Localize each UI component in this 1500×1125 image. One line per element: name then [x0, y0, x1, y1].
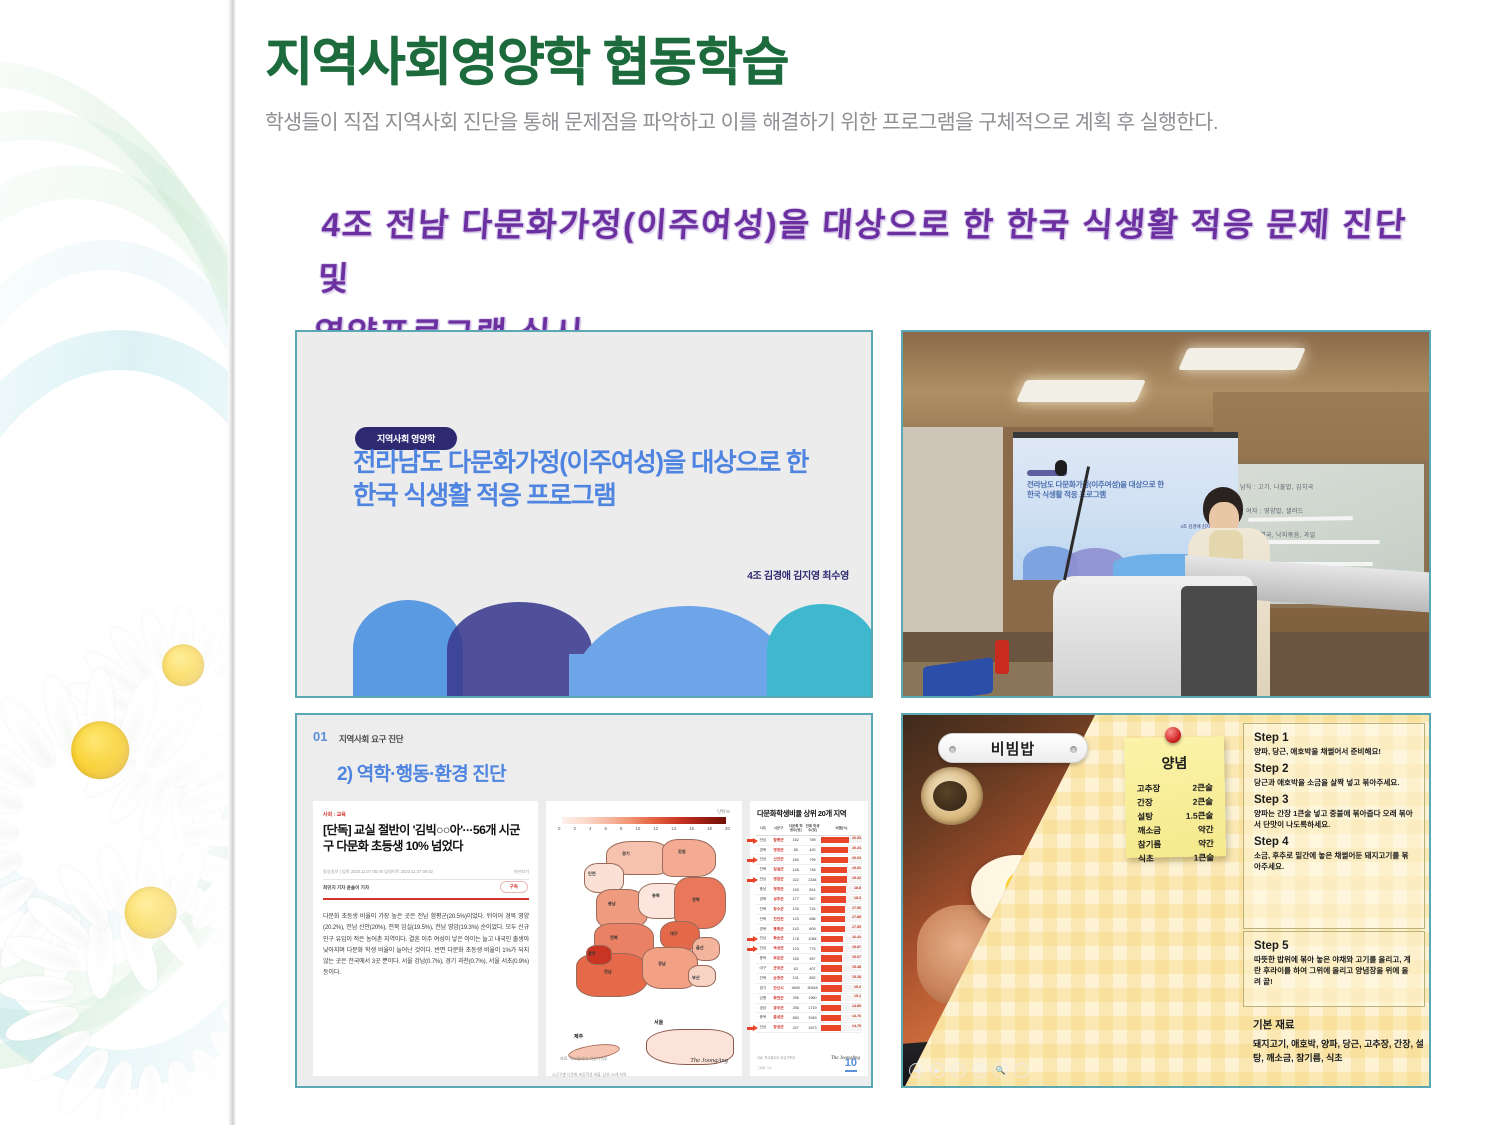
- map-label-jeju: 제주: [574, 1033, 583, 1040]
- step-title: Step 5: [1254, 940, 1414, 952]
- map-legend-tick: 10: [635, 826, 640, 831]
- ratio-bar-fill: [821, 955, 842, 962]
- project-heading-line1: 4조 전남 다문화가정(이주여성)을 대상으로 한 한국 식생활 적응 문제 진…: [317, 206, 1409, 297]
- news-red-rule: [323, 898, 529, 900]
- fire-extinguisher: [995, 640, 1009, 674]
- ratio-bar-track: 15.2: [821, 985, 862, 992]
- th-sido: 시도: [756, 823, 770, 835]
- cell-sido: 대구: [756, 964, 770, 974]
- map-label-chungbuk: 충북: [652, 893, 660, 899]
- slide-page-number: 10: [845, 1057, 857, 1072]
- cell-multicultural-count: 142: [787, 924, 804, 934]
- table-row: 전북진안군12368617.88: [756, 914, 862, 924]
- seasoning-amount: 1큰술: [1194, 850, 1215, 864]
- ratio-value: 18.3: [854, 896, 861, 900]
- map-label-ulsan: 울산: [696, 945, 704, 951]
- cell-sido: 전북: [756, 904, 770, 914]
- th-ratio: 비율(%): [821, 823, 862, 835]
- map-footnote: 시군구별 다문화 초등학생 비율, 상위 20개 지역: [552, 1073, 626, 1078]
- cell-multicultural-count: 583: [787, 1013, 804, 1023]
- wall-left: [903, 427, 1013, 637]
- news-clipping-card: 사회 : 교육 [단독] 교실 절반이 '김빅○○아'···56개 시군구 다문…: [313, 801, 538, 1076]
- table-row: 전남화순군178108416.42: [756, 934, 862, 944]
- ratio-value: 19.32: [852, 876, 861, 880]
- ratio-bar-fill: [821, 946, 843, 953]
- cell-ratio-bar: 15.87: [821, 944, 862, 954]
- seasoning-name: 깨소금: [1137, 823, 1161, 837]
- cell-multicultural-count: 247: [787, 1023, 804, 1033]
- map-legend-tick: 16: [689, 826, 694, 831]
- ceiling-light-2: [1178, 348, 1306, 370]
- screen-title-line1: 전라남도 다문화가정(이주여성)을 대상으로 한: [1027, 480, 1164, 489]
- ratio-bar-track: 15.48: [821, 965, 862, 972]
- seasoning-row: 설탕1.5큰술: [1137, 808, 1213, 823]
- seasoning-row: 간장2큰술: [1137, 794, 1213, 809]
- ratio-value: 15.1: [854, 994, 861, 998]
- cell-sido: 충북: [756, 954, 770, 964]
- ratio-bar-track: 20.24: [821, 847, 862, 854]
- table-row: 전남장성군247167314.75: [756, 1023, 862, 1033]
- cell-total-count: 799: [804, 855, 821, 865]
- ratio-bar-fill: [821, 906, 845, 913]
- cell-multicultural-count: 153: [787, 885, 804, 895]
- highlight-arrow-icon: [747, 838, 758, 844]
- map-label-chungnam: 충남: [608, 901, 616, 907]
- ratio-value: 16.42: [852, 935, 861, 939]
- table-row: 충남청양군15381418.8: [756, 885, 862, 895]
- cell-ratio-bar: 14.89: [821, 1003, 862, 1013]
- seasoning-list: 고추장2큰술간장2큰술설탕1.5큰술깨소금약간참기름약간식초1큰술: [1137, 780, 1214, 865]
- slide-title-line2: 한국 식생활 적응 프로그램: [353, 482, 616, 510]
- map-unit-label: 단위:%: [717, 809, 730, 815]
- map-legend-ticks: 02468101214161820: [558, 826, 730, 831]
- table-row: 전북장수군13072417.96: [756, 904, 862, 914]
- step-title: Step 2: [1254, 763, 1414, 775]
- cell-multicultural-count: 123: [787, 914, 804, 924]
- cell-sigungu: 보은군: [770, 954, 788, 964]
- cell-total-count: 748: [804, 865, 821, 875]
- cell-sigungu: 성주군: [770, 894, 788, 904]
- page-root: 지역사회영양학 협동학습 학생들이 직접 지역사회 진단을 통해 문제점을 파악…: [0, 0, 1500, 1125]
- table-row: 대구군위군6340715.48: [756, 964, 862, 974]
- cell-sigungu: 청양군: [770, 885, 788, 895]
- presentation-photo-panel[interactable]: 남자 : 고기, 나물밥, 김치국 여자 : 영양밥, 샐러드 공통 : 미역국…: [901, 330, 1431, 698]
- ratio-value: 19.52: [852, 866, 861, 870]
- th-total: 전체 학생수(명): [804, 823, 821, 835]
- ratio-bar-fill: [821, 995, 842, 1002]
- cell-multicultural-count: 177: [787, 894, 804, 904]
- ratio-value: 15.87: [852, 945, 861, 949]
- table-row: 충북음성군583394914.76: [756, 1013, 862, 1023]
- seasoning-sticky-note: 양념 고추장2큰술간장2큰술설탕1.5큰술깨소금약간참기름약간식초1큰술: [1124, 736, 1226, 858]
- cell-sigungu: 음성군: [770, 1013, 788, 1023]
- ratio-value: 20.53: [852, 836, 861, 840]
- microphone-head: [1055, 460, 1067, 476]
- highlight-arrow-icon: [747, 1025, 758, 1031]
- map-legend-tick: 18: [707, 826, 712, 831]
- more-icon[interactable]: ⋯: [1014, 1063, 1029, 1078]
- cell-sido: 전남: [756, 1023, 770, 1033]
- map-legend-tick: 8: [620, 826, 622, 831]
- step-body: 소금, 후추로 밑간에 놓은 채썰어둔 돼지고기를 볶아주세요.: [1254, 850, 1414, 872]
- cell-multicultural-count: 422: [787, 875, 804, 885]
- table-footnote: 그래픽 기자: [757, 1066, 772, 1070]
- cell-total-count: 1719: [804, 1003, 821, 1013]
- ratio-value: 17.88: [852, 915, 861, 919]
- cell-multicultural-count: 131: [787, 973, 804, 983]
- th-sigungu: 시군구: [770, 823, 788, 835]
- map-label-seoul: 서울: [654, 1019, 663, 1026]
- decorative-blob-base: [569, 654, 799, 698]
- cell-total-count: 1960: [804, 993, 821, 1003]
- mushroom-center: [933, 781, 967, 811]
- table-row: 강원화천군296196015.1: [756, 993, 862, 1003]
- news-headline: [단독] 교실 절반이 '김빅○○아'···56개 시군구 다문화 초등생 10…: [323, 823, 529, 855]
- dish-name: 비빔밥: [991, 738, 1035, 759]
- cell-sido: 전남: [756, 855, 770, 865]
- cell-sigungu: 장성군: [770, 1023, 788, 1033]
- page-subtitle: 학생들이 직접 지역사회 진단을 통해 문제점을 파악하고 이를 해결하기 위한…: [265, 105, 1465, 135]
- ratio-bar-track: 14.76: [821, 1015, 862, 1022]
- highlight-arrow-icon: [747, 877, 758, 883]
- ratio-value: 17.96: [852, 906, 861, 910]
- cell-total-count: 686: [804, 914, 821, 924]
- seasoning-amount: 1.5큰술: [1186, 808, 1214, 822]
- cell-sido: 강원: [756, 993, 770, 1003]
- table-row: 경남공주군256171914.89: [756, 1003, 862, 1013]
- map-legend-gradient: [562, 817, 726, 824]
- cell-sido: 전북: [756, 914, 770, 924]
- ratio-value: 14.75: [852, 1024, 861, 1028]
- seasoning-title: 양념: [1124, 752, 1224, 774]
- table-row: 전남신안군16079920.03: [756, 855, 862, 865]
- seasoning-amount: 약간: [1198, 822, 1214, 836]
- cell-total-count: 724: [804, 904, 821, 914]
- step-title: Step 4: [1254, 836, 1414, 848]
- ratio-bar-fill: [821, 1005, 841, 1012]
- seasoning-row: 참기름약간: [1138, 836, 1214, 851]
- seasoning-name: 참기름: [1138, 837, 1162, 851]
- ratio-value: 15.2: [854, 985, 861, 989]
- cell-total-count: 407: [804, 964, 821, 974]
- cell-multicultural-count: 146: [787, 865, 804, 875]
- highlight-arrow-icon: [747, 946, 758, 952]
- ratio-bar-track: 16.42: [821, 936, 862, 943]
- ratio-value: 15.67: [852, 955, 861, 959]
- cell-sigungu: 순창군: [770, 973, 788, 983]
- cell-multicultural-count: 123: [787, 944, 804, 954]
- cell-ratio-bar: 17.96: [821, 904, 862, 914]
- screen-title: 전라남도 다문화가정(이주여성)을 대상으로 한 한국 식생활 적응 프로그램: [1027, 480, 1222, 501]
- news-subscribe-button[interactable]: 구독: [500, 881, 528, 893]
- ratio-bar-fill: [821, 867, 848, 874]
- cell-sigungu: 진안군: [770, 914, 788, 924]
- ratio-bar-fill: [821, 965, 842, 972]
- table-row: 전남곡성군12377515.87: [756, 944, 862, 954]
- ratio-bar-track: 18.8: [821, 886, 862, 893]
- cell-multicultural-count: 150: [787, 954, 804, 964]
- ratio-bar-track: 19.52: [821, 867, 862, 874]
- korea-choropleth-card: 단위:% 02468101214161820: [546, 801, 742, 1076]
- cell-ratio-bar: 14.75: [821, 1023, 862, 1033]
- slide-authors: 4조 김경애 김지영 최수영: [747, 567, 849, 582]
- cell-total-count: 1673: [804, 1023, 821, 1033]
- cell-ratio-bar: 15.48: [821, 964, 862, 974]
- map-brand: The JoongAng: [690, 1057, 728, 1064]
- cell-sigungu: 공주군: [770, 1003, 788, 1013]
- seasoning-amount: 2큰술: [1192, 780, 1213, 794]
- ratio-value: 14.76: [852, 1014, 861, 1018]
- seasoning-name: 설탕: [1137, 809, 1153, 823]
- cell-sido: 경북: [756, 924, 770, 934]
- table-header-row: 시도 시군구 다문화 학생수(명) 전체 학생수(명) 비율(%): [756, 823, 862, 835]
- cell-multicultural-count: 296: [787, 993, 804, 1003]
- map-label-daegu: 대구: [670, 931, 678, 937]
- cell-sigungu: 군위군: [770, 964, 788, 974]
- cell-ratio-bar: 20.03: [821, 855, 862, 865]
- cell-sigungu: 장수군: [770, 904, 788, 914]
- cell-sigungu: 봉화군: [770, 924, 788, 934]
- table-row: 경북봉화군14280917.55: [756, 924, 862, 934]
- map-label-gwangju: 광주: [588, 951, 596, 957]
- cell-total-count: 809: [804, 924, 821, 934]
- cell-ratio-bar: 19.52: [821, 865, 862, 875]
- cell-sido: 전북: [756, 865, 770, 875]
- news-divider: [323, 879, 529, 880]
- cell-ratio-bar: 19.32: [821, 875, 862, 885]
- page-header: 지역사회영양학 협동학습 학생들이 직접 지역사회 진단을 통해 문제점을 파악…: [265, 36, 1465, 135]
- cell-sigungu: 곡성군: [770, 944, 788, 954]
- pushpin-icon: [1165, 727, 1181, 743]
- recipe-toolbar[interactable]: ◀▶／❐🔍⋯: [909, 1063, 1029, 1078]
- table-row: 경북성주군17796718.3: [756, 894, 862, 904]
- cell-ratio-bar: 14.76: [821, 1013, 862, 1023]
- map-label-gyeongbuk: 경북: [692, 897, 700, 903]
- ratio-bar-fill: [821, 916, 845, 923]
- news-meta: 중앙일보 | 입력 2023.11.07 05:00 업데이트 2023.11.…: [323, 869, 529, 875]
- cell-sigungu: 신안군: [770, 855, 788, 865]
- cell-ratio-bar: 16.42: [821, 934, 862, 944]
- map-label-incheon: 인천: [588, 871, 596, 877]
- plate-hole-left: [949, 746, 956, 753]
- table-row: 경북영양군8542020.24: [756, 845, 862, 855]
- cell-multicultural-count: 160: [787, 855, 804, 865]
- whiteboard-highlight-2: [1255, 540, 1380, 544]
- ratio-value: 15.48: [852, 965, 861, 969]
- cell-ratio-bar: 17.55: [821, 924, 862, 934]
- step-body: 양파, 당근, 애호박을 채썰어서 준비해요!: [1254, 746, 1414, 757]
- ratio-value: 20.24: [852, 846, 861, 850]
- map-label-jeonnam: 전남: [604, 969, 612, 975]
- map-legend-tick: 12: [653, 826, 658, 831]
- cell-sido: 경북: [756, 845, 770, 855]
- cell-total-count: 852: [804, 973, 821, 983]
- step-title: Step 1: [1254, 732, 1414, 744]
- ranking-table: 시도 시군구 다문화 학생수(명) 전체 학생수(명) 비율(%) 전남함평군1…: [756, 823, 862, 1033]
- media-grid: 지역사회 영양학 전라남도 다문화가정(이주여성)을 대상으로 한 한국 식생활…: [295, 330, 1431, 1088]
- ranking-table-wrap: 시도 시군구 다문화 학생수(명) 전체 학생수(명) 비율(%) 전남함평군1…: [756, 823, 862, 1033]
- ratio-bar-track: 14.75: [821, 1025, 862, 1032]
- diagnosis-slide-panel[interactable]: 01 지역사회 요구 진단 2) 역학·행동·환경 진단 사회 : 교육 [단독…: [295, 713, 873, 1088]
- seasoning-name: 간장: [1137, 795, 1153, 809]
- table-source: 자료: 학교알리미·여성가족부: [757, 1055, 795, 1060]
- slide-title-panel[interactable]: 지역사회 영양학 전라남도 다문화가정(이주여성)을 대상으로 한 한국 식생활…: [295, 330, 873, 698]
- cell-total-count: 2184: [804, 875, 821, 885]
- copy-icon[interactable]: ❐: [972, 1063, 987, 1078]
- ratio-bar-fill: [821, 847, 849, 854]
- ratio-bar-fill: [821, 926, 845, 933]
- cell-ratio-bar: 15.2: [821, 983, 862, 993]
- ratio-bar-track: 17.88: [821, 916, 862, 923]
- ratio-value: 20.03: [852, 856, 861, 860]
- cell-sido: 경기: [756, 983, 770, 993]
- cell-multicultural-count: 63: [787, 964, 804, 974]
- cell-total-count: 30546: [804, 983, 821, 993]
- ratio-bar-fill: [821, 837, 849, 844]
- ratio-bar-fill: [821, 1025, 841, 1032]
- cell-ratio-bar: 15.67: [821, 954, 862, 964]
- korea-map-shape: 경기 강원 인천 충남 충북 경북 전북 대구 울산 전남 경남 부산 광주: [566, 841, 722, 1021]
- ingredients-block: 기본 재료 돼지고기, 애호박, 양파, 당근, 고추장, 간장, 설탕, 깨소…: [1253, 1017, 1425, 1066]
- cell-total-count: 3949: [804, 1013, 821, 1023]
- cell-multicultural-count: 130: [787, 904, 804, 914]
- seasoning-row: 식초1큰술: [1138, 850, 1214, 865]
- news-meta-left: 중앙일보 | 입력 2023.11.07 05:00 업데이트 2023.11.…: [323, 869, 433, 875]
- cell-total-count: 814: [804, 885, 821, 895]
- screen-title-line2: 한국 식생활 적응 프로그램: [1027, 490, 1106, 499]
- ratio-bar-fill: [821, 857, 848, 864]
- table-row: 충북보은군15095715.67: [756, 954, 862, 964]
- step-title: Step 3: [1254, 794, 1414, 806]
- cell-sido: 충북: [756, 1013, 770, 1023]
- section-number: 01: [313, 729, 327, 744]
- cell-ratio-bar: 15.1: [821, 993, 862, 1003]
- ratio-bar-track: 18.3: [821, 896, 862, 903]
- seasoning-row: 고추장2큰술: [1137, 780, 1213, 795]
- map-label-gangwon: 강원: [678, 849, 686, 855]
- next-icon[interactable]: ▶: [930, 1063, 945, 1078]
- highlight-arrow-icon: [747, 857, 758, 863]
- search-icon[interactable]: 🔍: [993, 1063, 1008, 1078]
- news-meta-right: 저만보기: [514, 869, 529, 875]
- ratio-bar-fill: [821, 896, 846, 903]
- news-body-text: 다문화 초등생 비율이 가장 높은 곳은 전남 함평군(20.5%)이었다. 뒤…: [323, 911, 529, 979]
- map-legend-tick: 20: [725, 826, 730, 831]
- seasoning-amount: 약간: [1198, 836, 1214, 850]
- ratio-bar-track: 19.32: [821, 876, 862, 883]
- cell-multicultural-count: 4690: [787, 983, 804, 993]
- table-row: 전북임실군14674819.52: [756, 865, 862, 875]
- podium-side: [1181, 586, 1257, 698]
- whiteboard-note-1: 남자 : 고기, 나물밥, 김치국: [1240, 482, 1314, 491]
- slide-title-line1: 전라남도 다문화가정(이주여성)을 대상으로 한: [353, 449, 808, 477]
- cell-total-count: 1084: [804, 934, 821, 944]
- map-label-gyeongnam: 경남: [658, 961, 666, 967]
- cell-multicultural-count: 256: [787, 1003, 804, 1013]
- plate-hole-right: [1070, 746, 1077, 753]
- cell-total-count: 420: [804, 845, 821, 855]
- cell-total-count: 957: [804, 954, 821, 964]
- ratio-bar-track: 15.67: [821, 955, 862, 962]
- table-row: 전남함평군16278920.53: [756, 835, 862, 845]
- cell-sido: 전남: [756, 875, 770, 885]
- cell-ratio-bar: 17.88: [821, 914, 862, 924]
- map-label-busan: 부산: [692, 975, 700, 981]
- cell-ratio-bar: 20.53: [821, 835, 862, 845]
- ratio-value: 14.89: [852, 1004, 861, 1008]
- cell-sido: 충남: [756, 885, 770, 895]
- cell-sigungu: 안산시: [770, 983, 788, 993]
- cell-total-count: 967: [804, 894, 821, 904]
- ratio-value: 15.38: [852, 975, 861, 979]
- ratio-bar-fill: [821, 936, 843, 943]
- cell-sigungu: 임실군: [770, 865, 788, 875]
- cell-ratio-bar: 18.3: [821, 894, 862, 904]
- band-haze-overlay: [0, 0, 236, 1125]
- map-region-gangwon: [662, 839, 716, 877]
- recipe-step5-box: Step 5따뜻한 밥위에 볶아 놓은 야채와 고기를 올리고, 계란 후라이를…: [1243, 931, 1425, 1007]
- page-fold-divider: [228, 0, 236, 1125]
- ratio-value: 17.55: [852, 925, 861, 929]
- ratio-bar-track: 15.87: [821, 946, 862, 953]
- cell-total-count: 789: [804, 835, 821, 845]
- ratio-bar-track: 17.55: [821, 926, 862, 933]
- cell-sigungu: 영암군: [770, 875, 788, 885]
- ratio-bar-fill: [821, 886, 847, 893]
- cell-sido: 전북: [756, 973, 770, 983]
- decorative-left-band: [0, 0, 236, 1125]
- map-legend-tick: 6: [604, 826, 606, 831]
- prev-icon[interactable]: ◀: [909, 1063, 924, 1078]
- map-label-gyeonggi: 경기: [622, 851, 630, 857]
- seasoning-name: 식초: [1138, 851, 1154, 865]
- step-body: 당근과 애호박을 소금을 살짝 넣고 볶아주세요.: [1254, 777, 1414, 788]
- slide-main-title: 전라남도 다문화가정(이주여성)을 대상으로 한 한국 식생활 적응 프로그램: [353, 447, 843, 512]
- section-label: 지역사회 요구 진단: [339, 733, 403, 745]
- cell-ratio-bar: 20.24: [821, 845, 862, 855]
- recipe-panel[interactable]: 비빔밥 양념 고추장2큰술간장2큰술설탕1.5큰술깨소금약간참기름약간식초1큰술…: [901, 713, 1431, 1088]
- ingredients-title: 기본 재료: [1253, 1017, 1425, 1032]
- cell-total-count: 775: [804, 944, 821, 954]
- cell-sido: 전남: [756, 944, 770, 954]
- ratio-bar-track: 20.53: [821, 837, 862, 844]
- map-legend-tick: 4: [589, 826, 591, 831]
- table-row: 전북순창군13185215.38: [756, 973, 862, 983]
- ratio-bar-fill: [821, 975, 842, 982]
- seasoning-row: 깨소금약간: [1137, 822, 1213, 837]
- cell-multicultural-count: 85: [787, 845, 804, 855]
- ratio-bar-fill: [821, 985, 842, 992]
- map-source: 자료: 학교알리미·여성가족부: [560, 1056, 608, 1062]
- th-multi: 다문화 학생수(명): [787, 823, 804, 835]
- cell-ratio-bar: 18.8: [821, 885, 862, 895]
- page-title: 지역사회영양학 협동학습: [265, 36, 1465, 91]
- cell-multicultural-count: 178: [787, 934, 804, 944]
- cell-sigungu: 영양군: [770, 845, 788, 855]
- map-legend-tick: 2: [573, 826, 575, 831]
- table-row: 전남영암군422218419.32: [756, 875, 862, 885]
- cell-sigungu: 화천군: [770, 993, 788, 1003]
- ratio-bar-track: 17.96: [821, 906, 862, 913]
- ratio-bar-fill: [821, 876, 847, 883]
- decorative-blob-teal: [767, 604, 873, 698]
- pen-icon[interactable]: ／: [951, 1063, 966, 1078]
- cell-sigungu: 화순군: [770, 934, 788, 944]
- cell-sido: 전남: [756, 835, 770, 845]
- ranking-table-card: 다문화학생비율 상위 20개 지역 시도 시군구 다문화 학생수(명) 전체 학…: [750, 801, 868, 1076]
- seasoning-amount: 2큰술: [1193, 794, 1214, 808]
- recipe-steps-box: Step 1양파, 당근, 애호박을 채썰어서 준비해요!Step 2당근과 애…: [1243, 723, 1425, 929]
